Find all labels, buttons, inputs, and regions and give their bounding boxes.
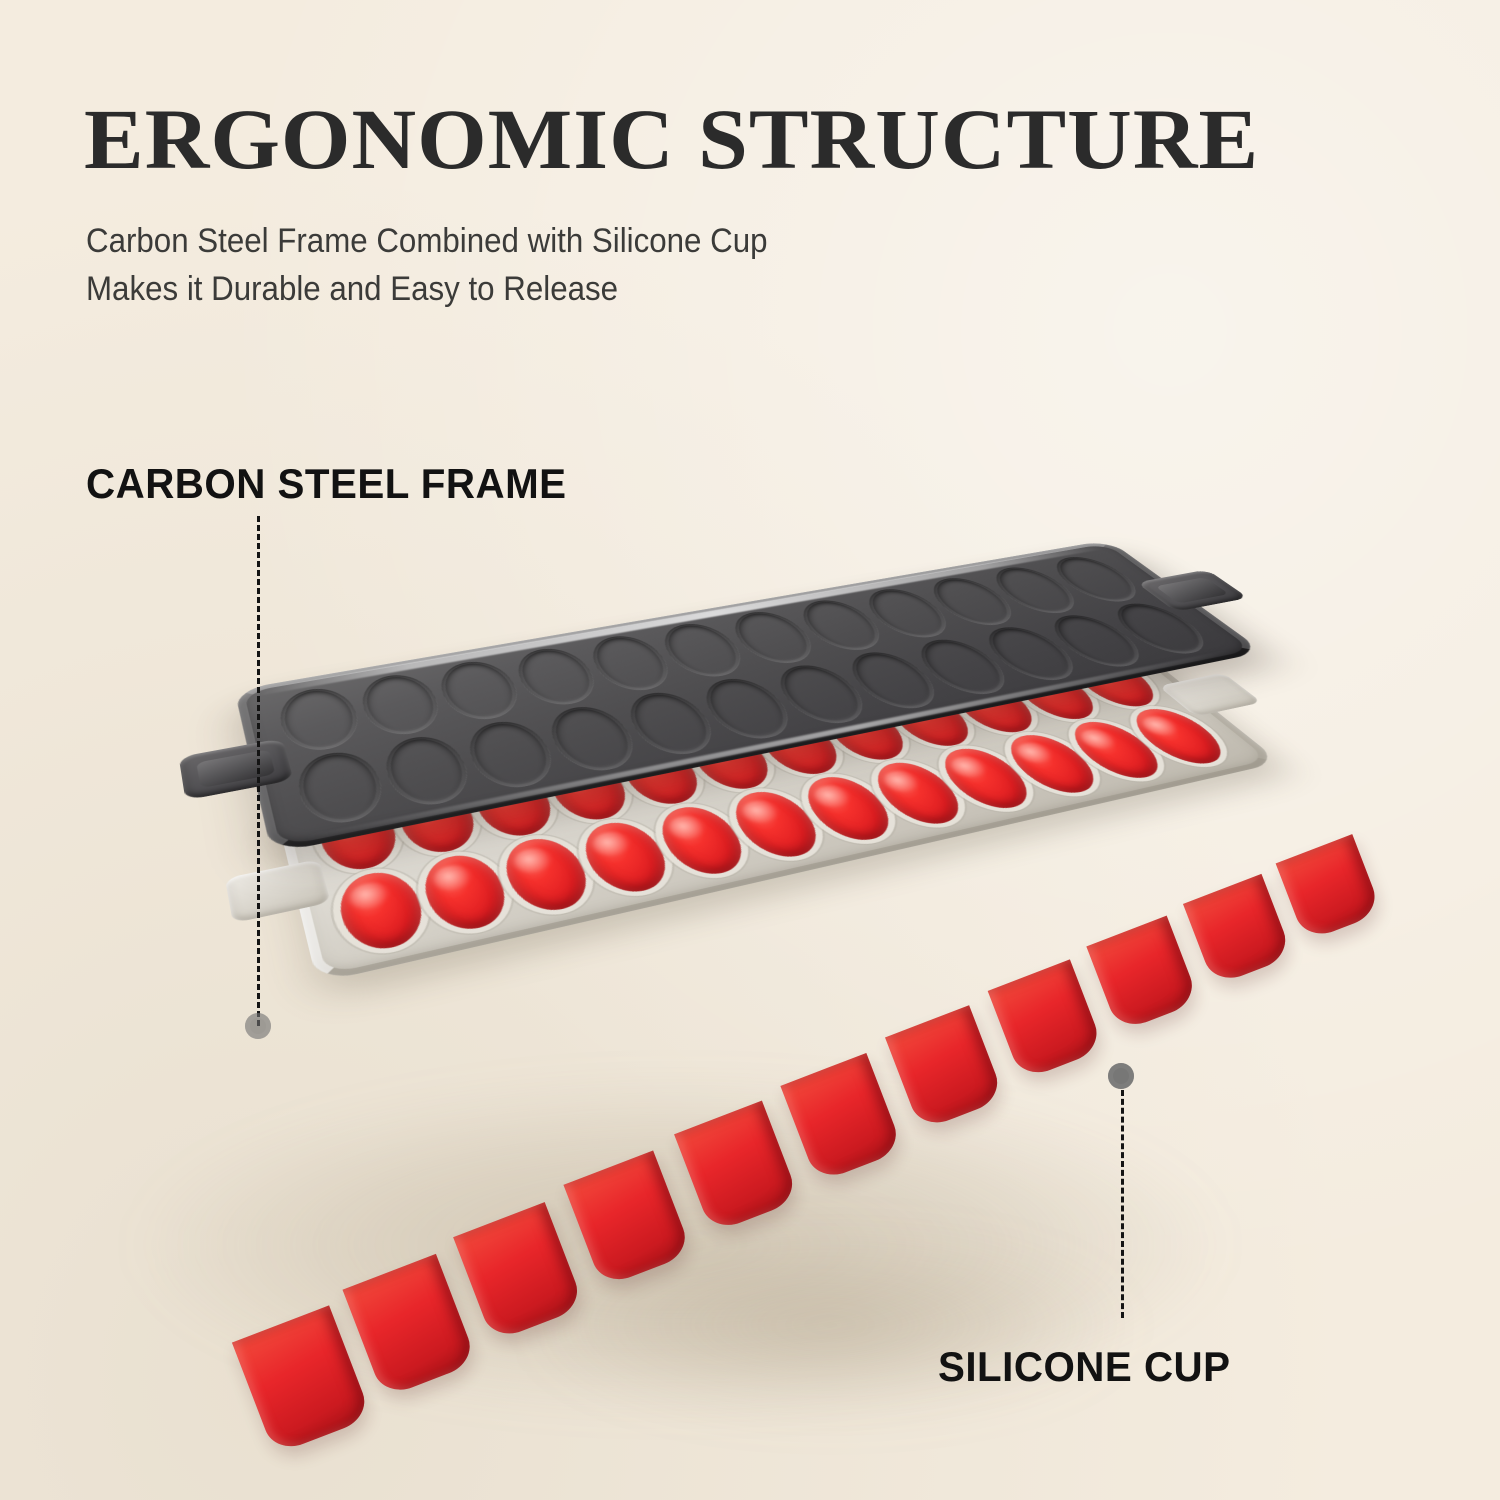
silicone-cup	[941, 676, 1048, 737]
silicone-cup-bottom	[1183, 874, 1293, 986]
silicone-cup	[415, 849, 517, 936]
frame-hole	[1101, 599, 1220, 658]
frame-hole	[376, 731, 478, 811]
silicone-cup	[995, 730, 1111, 799]
frame-hole	[581, 631, 682, 695]
frame-hole	[855, 585, 962, 642]
tray-handle-left	[225, 859, 331, 923]
frame-hole	[836, 647, 950, 713]
callout-marker-carbon-steel-frame	[245, 1013, 271, 1039]
silicone-cup	[722, 786, 832, 863]
silicone-cup	[681, 726, 782, 794]
frame-hole	[459, 716, 564, 793]
carbon-steel-frame	[270, 540, 1250, 840]
silicone-cup	[1120, 704, 1238, 769]
silicone-cup-bottom	[232, 1305, 372, 1454]
frame-highlight-top	[254, 544, 1104, 696]
frame-hole	[354, 670, 449, 740]
callout-marker-silicone-cup	[1108, 1063, 1134, 1089]
frame-body	[234, 540, 1263, 854]
subtitle-line-1: Carbon Steel Frame Combined with Silicon…	[86, 218, 768, 266]
frame-highlight-bottom	[306, 650, 1234, 841]
subtitle-line-2: Makes it Durable and Easy to Release	[86, 266, 768, 314]
frame-handle-left	[179, 738, 294, 800]
silicone-cup	[930, 743, 1044, 814]
frame-hole	[789, 596, 894, 655]
frame-hole	[274, 684, 366, 756]
tray-handle-right	[1158, 673, 1262, 717]
frame-hole	[721, 607, 825, 667]
silicone-cup	[313, 797, 405, 876]
silicone-cup	[611, 740, 711, 810]
frame-hole	[919, 574, 1027, 629]
tray-body	[274, 639, 1280, 983]
silicone-cup	[649, 801, 757, 881]
frame-hole	[617, 687, 726, 760]
page-subtitle: Carbon Steel Frame Combined with Silicon…	[86, 218, 768, 313]
silicone-cup-grid	[313, 653, 1238, 956]
silicone-tray	[270, 540, 1250, 840]
silicone-cup-bottom	[885, 1005, 1005, 1131]
silicone-cup	[1061, 653, 1170, 711]
frame-hole	[507, 644, 606, 710]
silicone-cup-bottom	[343, 1254, 478, 1398]
callout-label-carbon-steel-frame: CARBON STEEL FRAME	[86, 460, 567, 508]
silicone-cup	[1059, 717, 1176, 784]
frame-hole	[981, 563, 1090, 617]
silicone-cup	[391, 782, 485, 859]
callout-leader-silicone-cup	[1121, 1090, 1124, 1318]
silicone-cup-bottom	[1086, 916, 1199, 1033]
callout-leader-carbon-steel-frame	[257, 516, 260, 1026]
frame-hole	[652, 619, 754, 681]
product-contact-shadow	[520, 1230, 1140, 1420]
page-title: ERGONOMIC STRUCTURE	[84, 96, 1259, 182]
silicone-cup	[466, 768, 562, 842]
silicone-cup	[862, 757, 975, 830]
silicone-cup	[573, 817, 679, 899]
frame-hole	[973, 623, 1090, 685]
silicone-cup-bottom	[674, 1101, 800, 1234]
silicone-cup	[1002, 665, 1110, 725]
silicone-cup	[540, 753, 638, 825]
frame-hole	[1038, 611, 1156, 672]
silicone-cup	[878, 688, 983, 751]
silicone-cup-bottom	[1276, 834, 1383, 942]
silicone-cup-bottom	[453, 1202, 585, 1342]
silicone-cup	[793, 771, 905, 846]
frame-hole	[539, 701, 646, 776]
silicone-cup-bottom	[780, 1053, 903, 1183]
frame-hole-grid	[274, 553, 1221, 829]
callout-label-silicone-cup: SILICONE CUP	[938, 1343, 1231, 1391]
tray-rim	[274, 639, 1280, 983]
frame-hole	[432, 657, 529, 725]
silicone-cup-bottom	[563, 1150, 692, 1287]
product-infographic: ERGONOMIC STRUCTURE Carbon Steel Frame C…	[0, 0, 1500, 1500]
silicone-cup	[814, 701, 918, 766]
frame-hole	[1042, 553, 1152, 606]
silicone-cup	[748, 713, 851, 779]
silicone-cup	[495, 833, 599, 918]
silicone-cup-bottom	[988, 959, 1105, 1080]
frame-rim	[234, 540, 1263, 854]
frame-hole	[692, 674, 803, 744]
frame-hole	[906, 635, 1022, 699]
frame-handle-right	[1136, 570, 1248, 612]
frame-hole	[291, 747, 391, 830]
frame-hole	[765, 660, 878, 728]
silicone-cup	[332, 866, 431, 956]
